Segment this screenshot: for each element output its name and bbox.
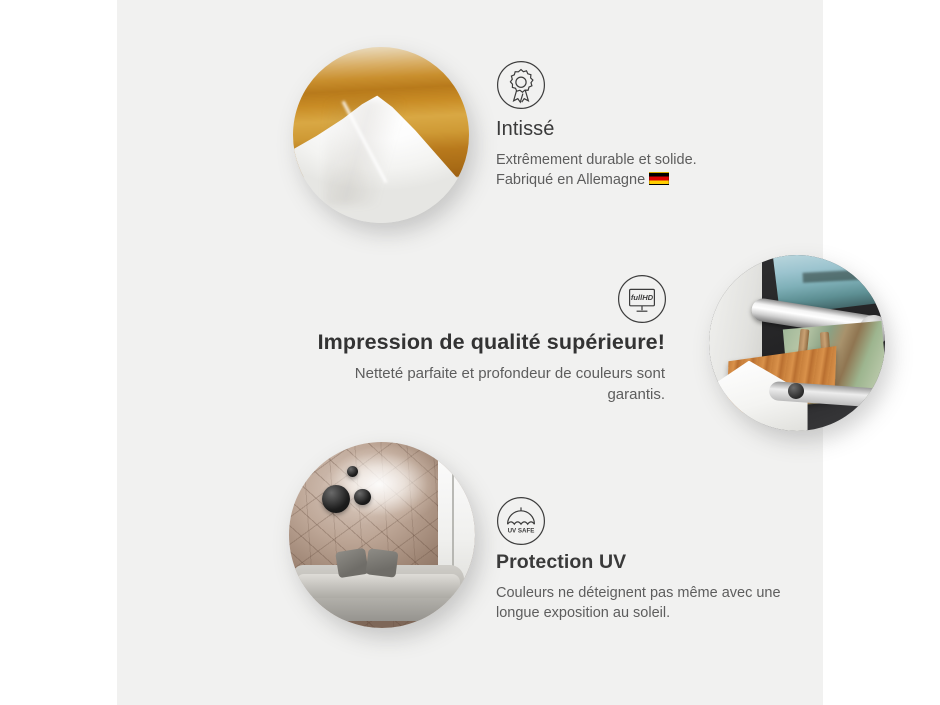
wallpaper-fold-shadow: [325, 100, 438, 206]
uv-line-2: longue exposition au soleil.: [496, 605, 670, 621]
intisse-line-1: Extrêmement durable et solide.: [496, 152, 697, 168]
svg-text:UV SAFE: UV SAFE: [508, 528, 535, 535]
impression-description: Netteté parfaite et profondeur de couleu…: [295, 363, 665, 405]
impression-text-block: Impression de qualité supérieure! Nettet…: [295, 330, 665, 405]
peeling-wallpaper-photo: [293, 47, 469, 223]
content-panel: Intissé Extrêmement durable et solide. F…: [117, 0, 823, 705]
uv-description: Couleurs ne déteignent pas même avec une…: [496, 583, 841, 623]
room-dark-orb-medium: [354, 489, 371, 506]
intisse-line-2: Fabriqué en Allemagne: [496, 172, 645, 188]
uv-line-1: Couleurs ne déteignent pas même avec une: [496, 585, 781, 601]
intisse-title: Intissé: [496, 118, 697, 141]
room-cushion-right: [366, 548, 399, 577]
award-rosette-icon: [496, 60, 546, 110]
svg-text:fullHD: fullHD: [631, 293, 654, 302]
impression-line-2: garantis.: [607, 386, 665, 403]
impression-line-1: Netteté parfaite et profondeur de couleu…: [355, 365, 665, 382]
product-feature-infographic: Intissé Extrêmement durable et solide. F…: [0, 0, 940, 705]
impression-title: Impression de qualité supérieure!: [295, 330, 665, 355]
living-room-mural-photo: [289, 442, 475, 628]
intisse-description: Extrêmement durable et solide. Fabriqué …: [496, 150, 697, 190]
room-cushion-left: [336, 548, 369, 578]
uv-title: Protection UV: [496, 551, 841, 574]
uv-safe-umbrella-icon: UV SAFE: [496, 496, 546, 546]
fullhd-monitor-icon: fullHD: [617, 274, 667, 324]
intisse-text-block: Intissé Extrêmement durable et solide. F…: [496, 118, 697, 190]
printing-press-photo: [709, 255, 885, 431]
uv-text-block: Protection UV Couleurs ne déteignent pas…: [496, 551, 841, 623]
room-dark-orb-large: [322, 485, 350, 513]
german-flag-icon: [649, 172, 669, 185]
room-sofa-seat: [296, 574, 460, 598]
